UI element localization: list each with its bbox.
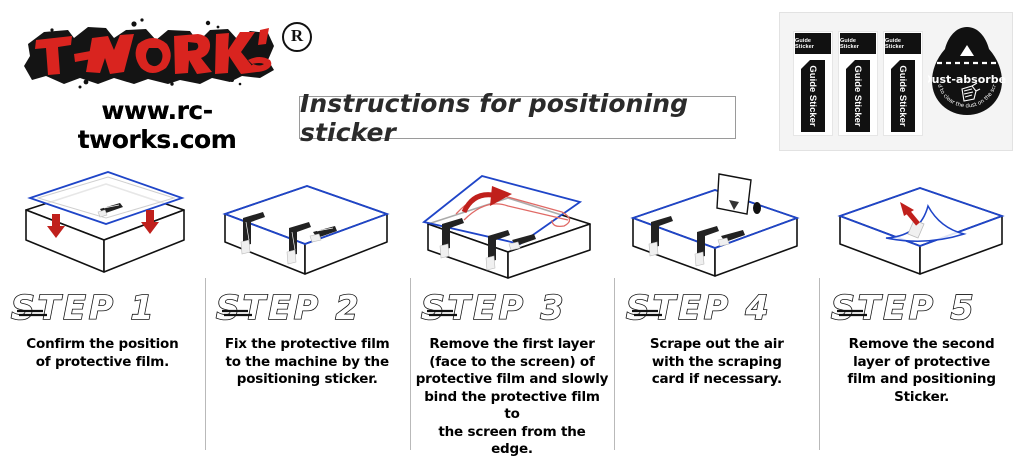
step-3-figure [410,162,615,280]
svg-text:STEP 2: STEP 2 [216,289,361,327]
guide-sticker-head-label: Guide Sticker [840,33,876,54]
brand-logo: R www.rc-tworks.com www.rc-tworks.com [14,8,314,136]
scraping-card [717,174,761,214]
registered-trademark-icon: R [282,22,312,52]
svg-text:STEP 3: STEP 3 [421,289,566,327]
svg-text:STEP 5: STEP 5 [831,289,976,327]
guide-sticker-sample-3: Guide Sticker Guide Sticker [883,31,923,136]
website-url: www.rc-tworks.com [26,96,288,154]
step-column-3: STEP 3 STEP 3 Remove the first layer(fac… [410,160,615,459]
guide-sticker-head-label: Guide Sticker [795,33,831,54]
steps-row: STEP 1 STEP 1 Confirm the positionof pro… [0,160,1024,459]
page-title: Instructions for positioning sticker [300,89,735,147]
step-1-heading: STEP 1 STEP 1 [0,288,205,328]
step-column-1: STEP 1 STEP 1 Confirm the positionof pro… [0,160,205,459]
guide-sticker-body: Guide Sticker [801,60,825,132]
guide-sticker-head-label: Guide Sticker [885,33,921,54]
step-2-heading: STEP 2 STEP 2 [205,288,410,328]
dust-absorber-sticker: Dust-absorber used to clear the dust on … [928,25,1006,119]
step-4-caption: Scrape out the airwith the scrapingcard … [620,336,813,389]
guide-sticker-body: Guide Sticker [891,60,915,132]
step-5-figure [819,162,1024,280]
guide-sticker-sample-2: Guide Sticker Guide Sticker [838,31,878,136]
guide-sticker-body-label: Guide Sticker [891,60,915,132]
step-5-caption: Remove the secondlayer of protectivefilm… [825,336,1018,406]
step-4-heading: STEP 4 STEP 4 [614,288,819,328]
step-1-figure [0,162,205,280]
step-column-2: STEP 2 STEP 2 Fix the protective filmto … [205,160,410,459]
guide-sticker-body-label: Guide Sticker [846,60,870,132]
step-2-figure [205,162,410,280]
step-2-caption: Fix the protective filmto the machine by… [211,336,404,389]
step-column-4: STEP 4 STEP 4 Scrape out the airwith the… [614,160,819,459]
svg-text:STEP 1: STEP 1 [11,289,156,327]
page-title-box: Instructions for positioning sticker [299,96,736,139]
step-5-heading: STEP 5 STEP 5 [819,288,1024,328]
step-3-caption: Remove the first layer(face to the scree… [416,336,609,459]
sticker-sample-panel: Guide Sticker Guide Sticker Guide Sticke… [779,12,1013,151]
guide-sticker-body: Guide Sticker [846,60,870,132]
tworks-wordmark-icon [22,14,280,92]
svg-text:STEP 4: STEP 4 [626,289,771,327]
guide-sticker-sample-1: Guide Sticker Guide Sticker [793,31,833,136]
step-1-caption: Confirm the positionof protective film. [6,336,199,371]
step-3-heading: STEP 3 STEP 3 [410,288,615,328]
dust-absorber-title: Dust-absorber [928,73,1006,86]
guide-sticker-body-label: Guide Sticker [801,60,825,132]
header: R www.rc-tworks.com www.rc-tworks.com In… [0,0,1024,160]
step-column-5: STEP 5 STEP 5 Remove the secondlayer of … [819,160,1024,459]
step-4-figure [614,162,819,280]
